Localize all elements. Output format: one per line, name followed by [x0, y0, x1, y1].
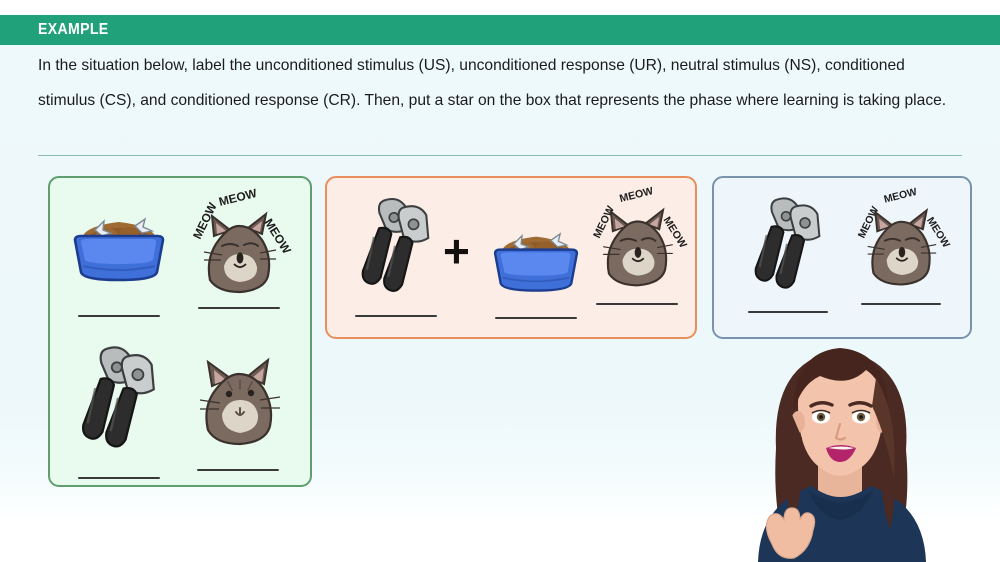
section-divider: [38, 155, 962, 156]
answer-line-3[interactable]: [78, 477, 160, 479]
example-badge-label: EXAMPLE: [38, 21, 109, 39]
instruction-text: In the situation below, label the uncond…: [38, 48, 963, 118]
answer-line-5[interactable]: [355, 315, 437, 317]
panel-after-conditioning[interactable]: MEOW MEOW MEOW: [712, 176, 972, 339]
answer-line-8[interactable]: [748, 311, 828, 313]
answer-line-6[interactable]: [495, 317, 577, 319]
panel-before-conditioning[interactable]: MEOW MEOW MEOW: [48, 176, 312, 487]
meowing-cat-icon: MEOW MEOW MEOW: [178, 188, 300, 299]
cell-can-opener-2: [341, 194, 451, 317]
can-opener-icon: [348, 194, 444, 303]
plus-operator: +: [443, 228, 470, 274]
presenter-video-overlay: [680, 318, 1000, 562]
slide-stage: EXAMPLE In the situation below, label th…: [0, 0, 1000, 562]
answer-line-4[interactable]: [197, 469, 279, 471]
can-opener-icon: [68, 342, 170, 459]
calm-cat-icon: [182, 348, 294, 459]
cell-can-opener-1: [64, 342, 174, 479]
meowing-cat-icon: MEOW MEOW MEOW: [843, 184, 959, 293]
can-opener-icon: [742, 192, 834, 301]
cell-food-bowl-1: [64, 202, 174, 317]
cell-can-opener-3: [736, 192, 840, 313]
meowing-cat-icon: MEOW MEOW MEOW: [578, 184, 696, 293]
answer-line-1[interactable]: [78, 315, 160, 317]
answer-line-9[interactable]: [861, 303, 941, 305]
answer-line-7[interactable]: [596, 303, 678, 305]
example-header-bar: EXAMPLE: [0, 15, 1000, 45]
cell-meowing-cat-1: MEOW MEOW MEOW: [176, 188, 302, 309]
svg-text:MEOW: MEOW: [883, 187, 918, 206]
cat-food-bowl-icon: [67, 202, 171, 293]
cell-meowing-cat-2: MEOW MEOW MEOW: [577, 184, 697, 305]
svg-text:MEOW: MEOW: [217, 188, 259, 209]
svg-text:MEOW: MEOW: [618, 185, 655, 205]
cat-food-bowl-icon: [481, 218, 591, 303]
panel-during-conditioning[interactable]: + MEOW: [325, 176, 697, 339]
cell-meowing-cat-3: MEOW MEOW MEOW: [842, 184, 960, 305]
answer-line-2[interactable]: [198, 307, 280, 309]
cell-calm-cat-1: [178, 348, 298, 471]
